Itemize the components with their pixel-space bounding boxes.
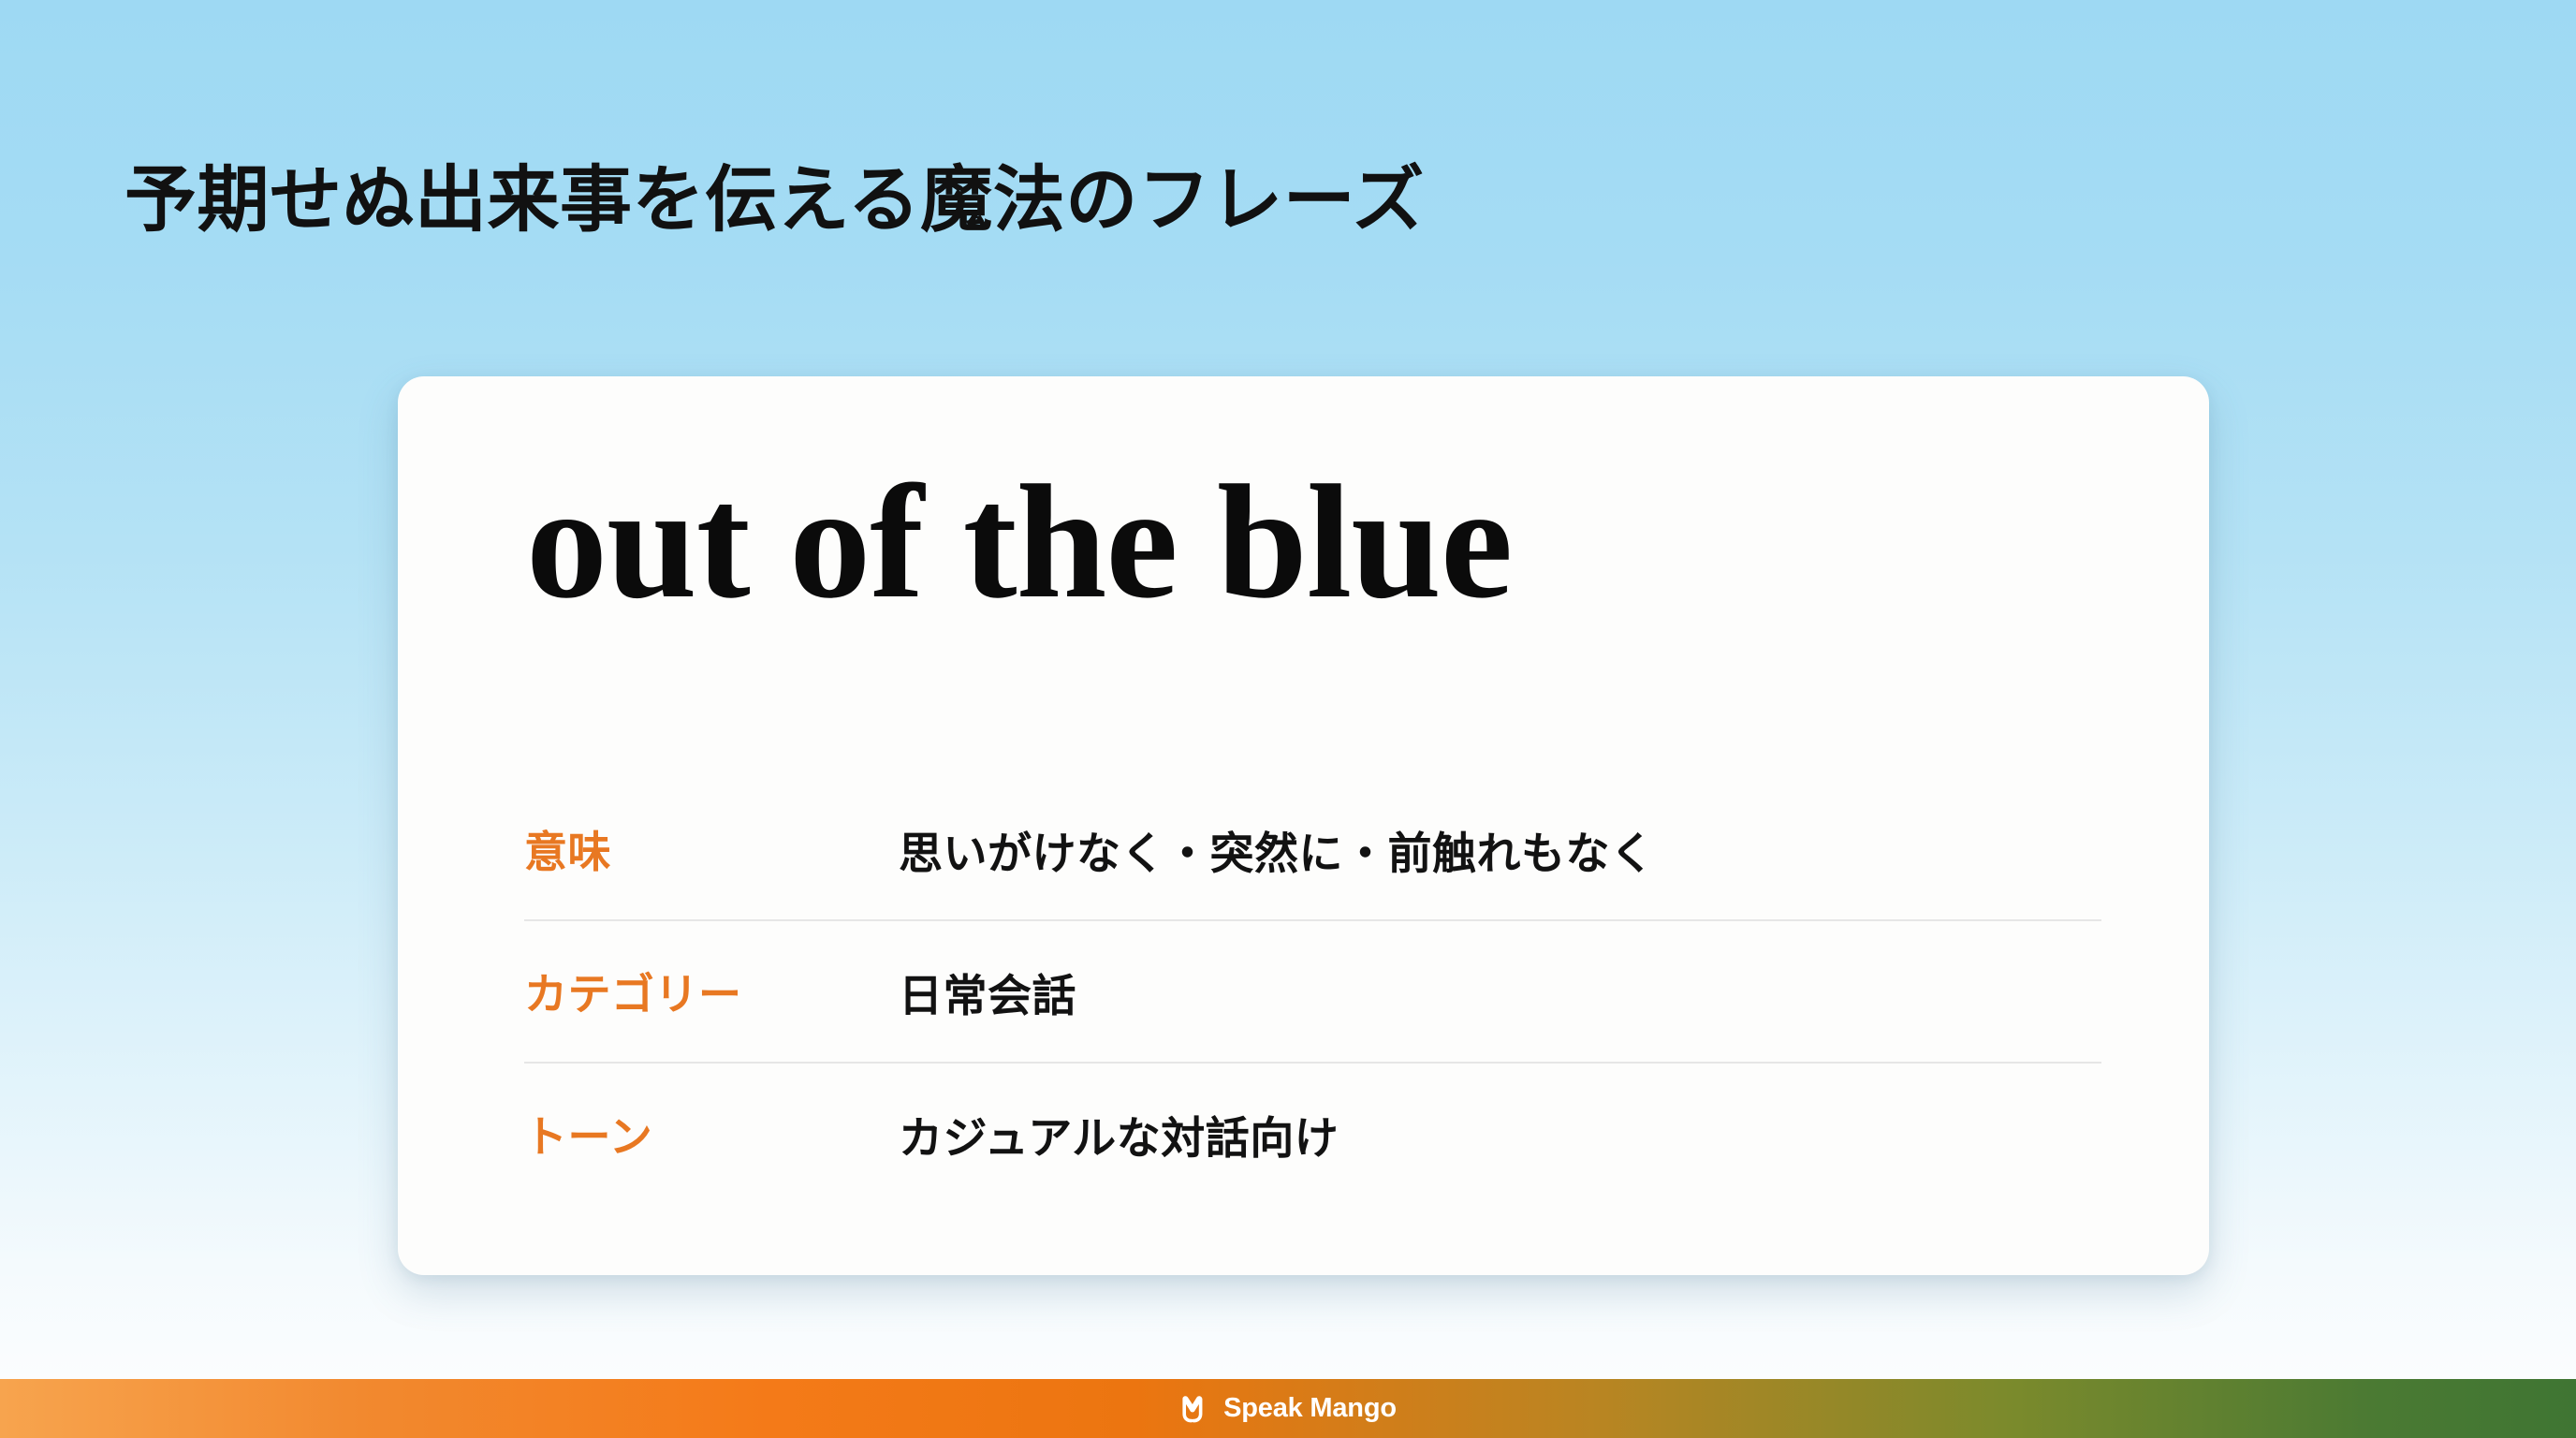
brand-name-label: Speak Mango [1223, 1393, 1397, 1424]
detail-value-meaning: 思いがけなく・突然に・前触れもなく [899, 817, 2101, 882]
detail-label-tone: トーン [524, 1103, 899, 1165]
phrase-headline: out of the blue [526, 461, 1512, 624]
phrase-card: out of the blue 意味 思いがけなく・突然に・前触れもなく カテゴ… [398, 376, 2209, 1275]
detail-value-category: 日常会話 [899, 960, 2101, 1024]
table-row: カテゴリー 日常会話 [524, 921, 2101, 1064]
page-title: 予期せぬ出来事を伝える魔法のフレーズ [124, 159, 1425, 242]
slide-root: 予期せぬ出来事を伝える魔法のフレーズ out of the blue 意味 思い… [0, 0, 2576, 1438]
detail-label-category: カテゴリー [524, 961, 899, 1022]
table-row: トーン カジュアルな対話向け [524, 1064, 2101, 1204]
detail-value-tone: カジュアルな対話向け [899, 1102, 2101, 1167]
mango-m-logo-icon [1179, 1393, 1211, 1425]
table-row: 意味 思いがけなく・突然に・前触れもなく [524, 779, 2101, 921]
brand-lockup: Speak Mango [1179, 1393, 1397, 1425]
footer-brand-bar: Speak Mango [0, 1379, 2576, 1438]
detail-label-meaning: 意味 [524, 818, 899, 880]
detail-table: 意味 思いがけなく・突然に・前触れもなく カテゴリー 日常会話 トーン カジュア… [524, 779, 2101, 1204]
